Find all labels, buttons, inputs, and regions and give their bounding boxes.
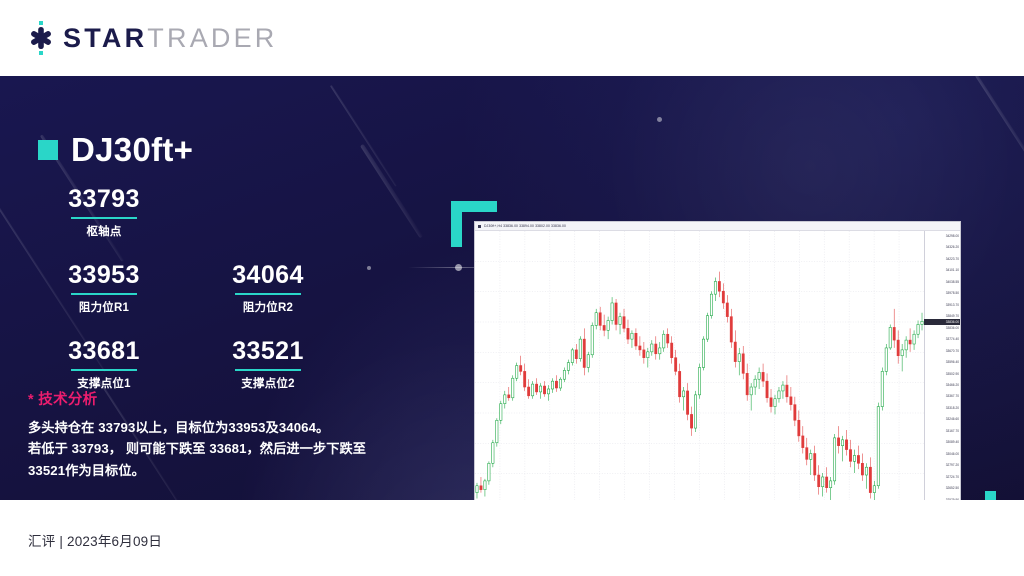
analysis-heading: * 技术分析 <box>28 388 408 409</box>
chart-plot-area <box>475 231 924 500</box>
level-value: 34064 <box>216 262 320 289</box>
level-divider <box>71 369 137 371</box>
candlestick-series <box>475 231 924 500</box>
analysis-line-1: 多头持仓在 33793以上，目标位为33953及34064。 <box>28 417 408 438</box>
level-divider <box>71 293 137 295</box>
poster-root: STARTRADER DJ30ft+ 33793 <box>0 0 1024 576</box>
price-tick: 33167.70 <box>946 430 959 433</box>
footer-caption: 汇评 | 2023年6月09日 <box>28 530 162 550</box>
brand-wordmark: STARTRADER <box>63 25 278 52</box>
price-tick: 33913.70 <box>946 304 959 307</box>
price-tick: 34101.10 <box>946 269 959 272</box>
level-pivot: 33793 枢轴点 <box>52 186 156 239</box>
chart-window: DJ30ft+,H4 33836.00 33894.00 33802.00 33… <box>474 221 961 500</box>
resistance-row: 33953 阻力位R1 34064 阻力位R2 <box>52 262 392 315</box>
row-spacer <box>52 239 392 262</box>
price-tick: 33046.00 <box>946 453 959 456</box>
decor-dot <box>657 117 662 122</box>
price-tick: 34298.00 <box>946 235 959 238</box>
chart-menu-icon[interactable] <box>478 225 481 228</box>
price-tick: 34326.20 <box>946 246 959 249</box>
price-tick: 34038.55 <box>946 281 959 284</box>
price-tick: 33596.40 <box>946 361 959 364</box>
pivot-row: 33793 枢轴点 <box>52 186 392 239</box>
current-price-label: 33836.00 <box>924 319 960 325</box>
brand-name-bold: STAR <box>63 23 147 53</box>
brand-header: STARTRADER <box>0 0 1024 76</box>
chart-title: DJ30ft+,H4 33836.00 33894.00 33802.00 33… <box>484 224 566 228</box>
level-s2: 33521 支撑点位2 <box>216 338 320 391</box>
price-tick: 32797.20 <box>946 464 959 467</box>
price-tick: 33466.20 <box>946 384 959 387</box>
row-spacer <box>52 315 392 338</box>
price-axis: 34298.0034326.2034223.7034101.1034038.55… <box>924 231 960 500</box>
price-tick: 33836.00 <box>946 327 959 330</box>
chart-titlebar: DJ30ft+,H4 33836.00 33894.00 33802.00 33… <box>475 222 960 231</box>
info-panel: DJ30ft+ 33793 枢轴点 33953 阻力位R1 <box>0 76 430 500</box>
price-tick: 33318.20 <box>946 407 959 410</box>
level-label: 枢轴点 <box>52 223 156 239</box>
level-r2: 34064 阻力位R2 <box>216 262 320 315</box>
level-value: 33953 <box>52 262 156 289</box>
price-tick: 33367.70 <box>946 395 959 398</box>
price-levels: 33793 枢轴点 33953 阻力位R1 34064 <box>52 186 392 391</box>
instrument-title-row: DJ30ft+ <box>38 133 193 166</box>
price-tick: 33978.50 <box>946 292 959 295</box>
level-divider <box>235 293 301 295</box>
price-tick: 33089.40 <box>946 441 959 444</box>
price-tick: 33502.90 <box>946 373 959 376</box>
level-label: 阻力位R2 <box>216 299 320 315</box>
dark-canvas: DJ30ft+ 33793 枢轴点 33953 阻力位R1 <box>0 76 1024 500</box>
price-tick: 32724.70 <box>946 476 959 479</box>
level-value: 33521 <box>216 338 320 365</box>
support-row: 33681 支撑点位1 33521 支撑点位2 <box>52 338 392 391</box>
technical-analysis: * 技术分析 多头持仓在 33793以上，目标位为33953及34064。 若低… <box>28 388 408 481</box>
instrument-bullet-icon <box>38 140 58 160</box>
brand-name-light: TRADER <box>147 23 277 53</box>
level-value: 33681 <box>52 338 156 365</box>
price-tick: 32652.50 <box>946 487 959 490</box>
price-tick: 34223.70 <box>946 258 959 261</box>
price-tick: 33246.60 <box>946 418 959 421</box>
level-divider <box>71 217 137 219</box>
star-asterisk-icon <box>26 21 56 55</box>
price-tick: 33849.70 <box>946 315 959 318</box>
instrument-symbol: DJ30ft+ <box>71 133 193 166</box>
level-divider <box>235 369 301 371</box>
level-r1: 33953 阻力位R1 <box>52 262 156 315</box>
brand-logo: STARTRADER <box>26 21 278 55</box>
level-s1: 33681 支撑点位1 <box>52 338 156 391</box>
price-tick: 33774.40 <box>946 338 959 341</box>
price-tick: 33670.70 <box>946 350 959 353</box>
footer: 汇评 | 2023年6月09日 <box>0 500 1024 576</box>
analysis-line-2: 若低于 33793， 则可能下跌至 33681，然后进一步下跌至 <box>28 438 408 459</box>
level-label: 阻力位R1 <box>52 299 156 315</box>
analysis-line-3: 33521作为目标位。 <box>28 460 408 481</box>
level-value: 33793 <box>52 186 156 213</box>
